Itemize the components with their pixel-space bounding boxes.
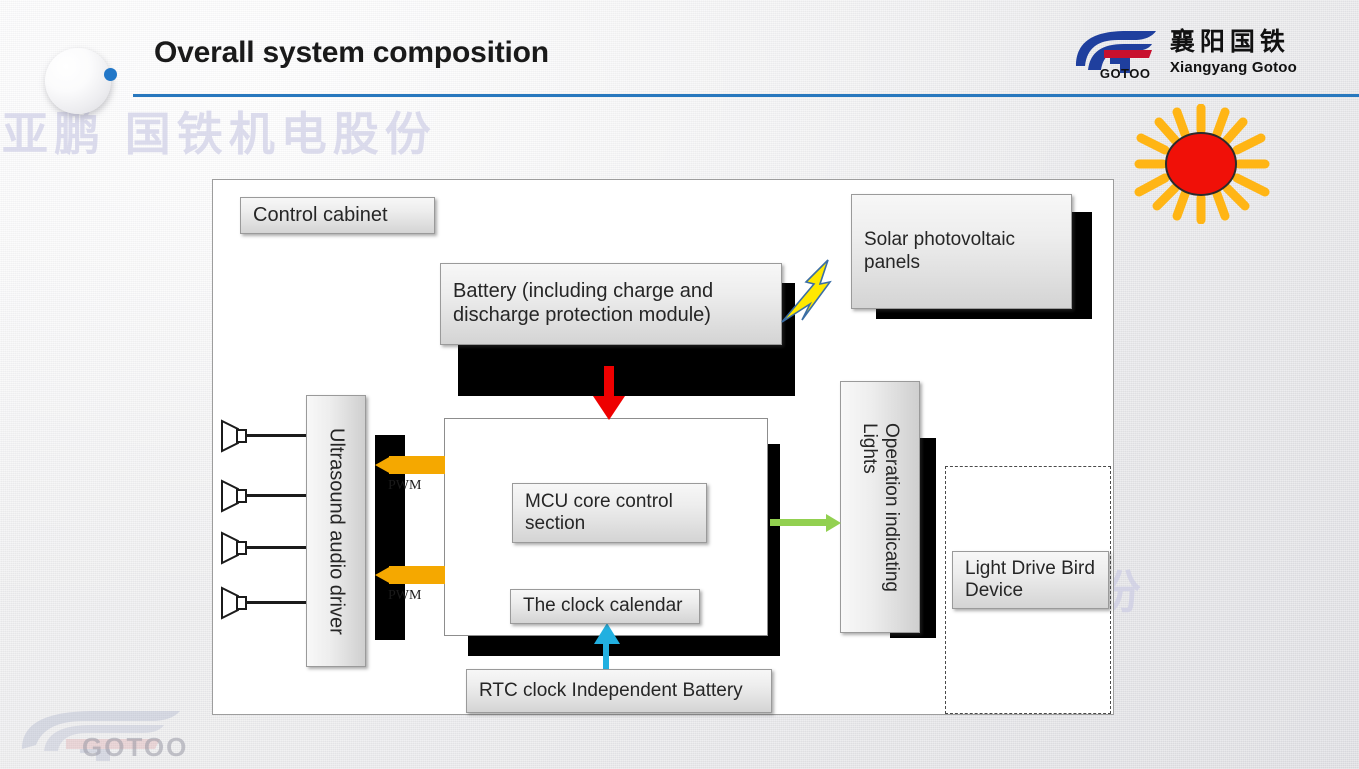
brand-chinese-name: 襄阳国铁 [1170, 30, 1297, 55]
pwm-arrow-top [375, 455, 445, 475]
connector-battery-to-mcu-arrow [592, 366, 626, 422]
box-operation-lights-label: Operation indicatingLights [858, 423, 902, 592]
speaker-wire-1 [246, 434, 308, 437]
box-ultrasound-label: Ultrasound audio driver [325, 428, 348, 635]
box-battery[interactable]: Battery (including charge and discharge … [440, 263, 782, 345]
ultrasound-speaker-icon [220, 531, 248, 565]
gotoo-wordmark: GOTOO [1100, 66, 1151, 81]
ultrasound-speaker-icon [220, 479, 248, 513]
brand-logo: GOTOO 襄阳国铁 Xiangyang Gotoo [1072, 26, 1297, 78]
box-operation-indicating-lights[interactable]: Operation indicatingLights [840, 381, 920, 633]
slide-canvas: 亚鹏 国铁机电股份 郝亚鹏 国铁机电股份 郝亚鹏 国铁机电股份 GOTOO Ov… [0, 0, 1359, 769]
watermark-gotoo-text: GOTOO [82, 732, 188, 763]
page-title: Overall system composition [154, 36, 549, 70]
speaker-wire-2 [246, 494, 308, 497]
connector-rtc-to-clock-arrow [592, 622, 622, 674]
box-ultrasound-audio-driver[interactable]: Ultrasound audio driver [306, 395, 366, 667]
pwm-label-top: PWM [388, 478, 421, 494]
pwm-label-bottom: PWM [388, 588, 421, 604]
box-mcu-core-control[interactable]: MCU core control section [512, 483, 707, 543]
ultrasound-speaker-icon [220, 586, 248, 620]
box-mcu-core-label: MCU core control section [513, 491, 706, 536]
brand-english-name: Xiangyang Gotoo [1170, 60, 1297, 75]
box-rtc-label: RTC clock Independent Battery [467, 680, 755, 702]
box-rtc-independent-battery[interactable]: RTC clock Independent Battery [466, 669, 772, 713]
box-clock-calendar-label: The clock calendar [511, 595, 694, 617]
speaker-wire-4 [246, 601, 308, 604]
decorative-blue-dot [104, 68, 117, 81]
title-underline [133, 94, 1359, 97]
decorative-sphere [45, 48, 111, 114]
pwm-arrow-bottom [375, 565, 445, 585]
box-control-cabinet[interactable]: Control cabinet [240, 197, 435, 234]
box-light-drive-label: Light Drive Bird Device [953, 558, 1108, 603]
sun-icon [1125, 104, 1277, 224]
box-clock-calendar[interactable]: The clock calendar [510, 589, 700, 624]
box-light-drive-bird-device[interactable]: Light Drive Bird Device [952, 551, 1109, 609]
box-battery-label: Battery (including charge and discharge … [441, 280, 781, 327]
connector-mcu-to-lights-arrow [770, 513, 842, 533]
lightning-bolt-icon [780, 258, 858, 324]
gotoo-mark-icon: GOTOO [1072, 26, 1160, 78]
speaker-wire-3 [246, 546, 308, 549]
box-control-cabinet-label: Control cabinet [241, 204, 400, 228]
ultrasound-speaker-icon [220, 419, 248, 453]
box-solar-label: Solar photovoltaic panels [852, 229, 1071, 274]
box-solar-photovoltaic-panels[interactable]: Solar photovoltaic panels [851, 194, 1072, 309]
